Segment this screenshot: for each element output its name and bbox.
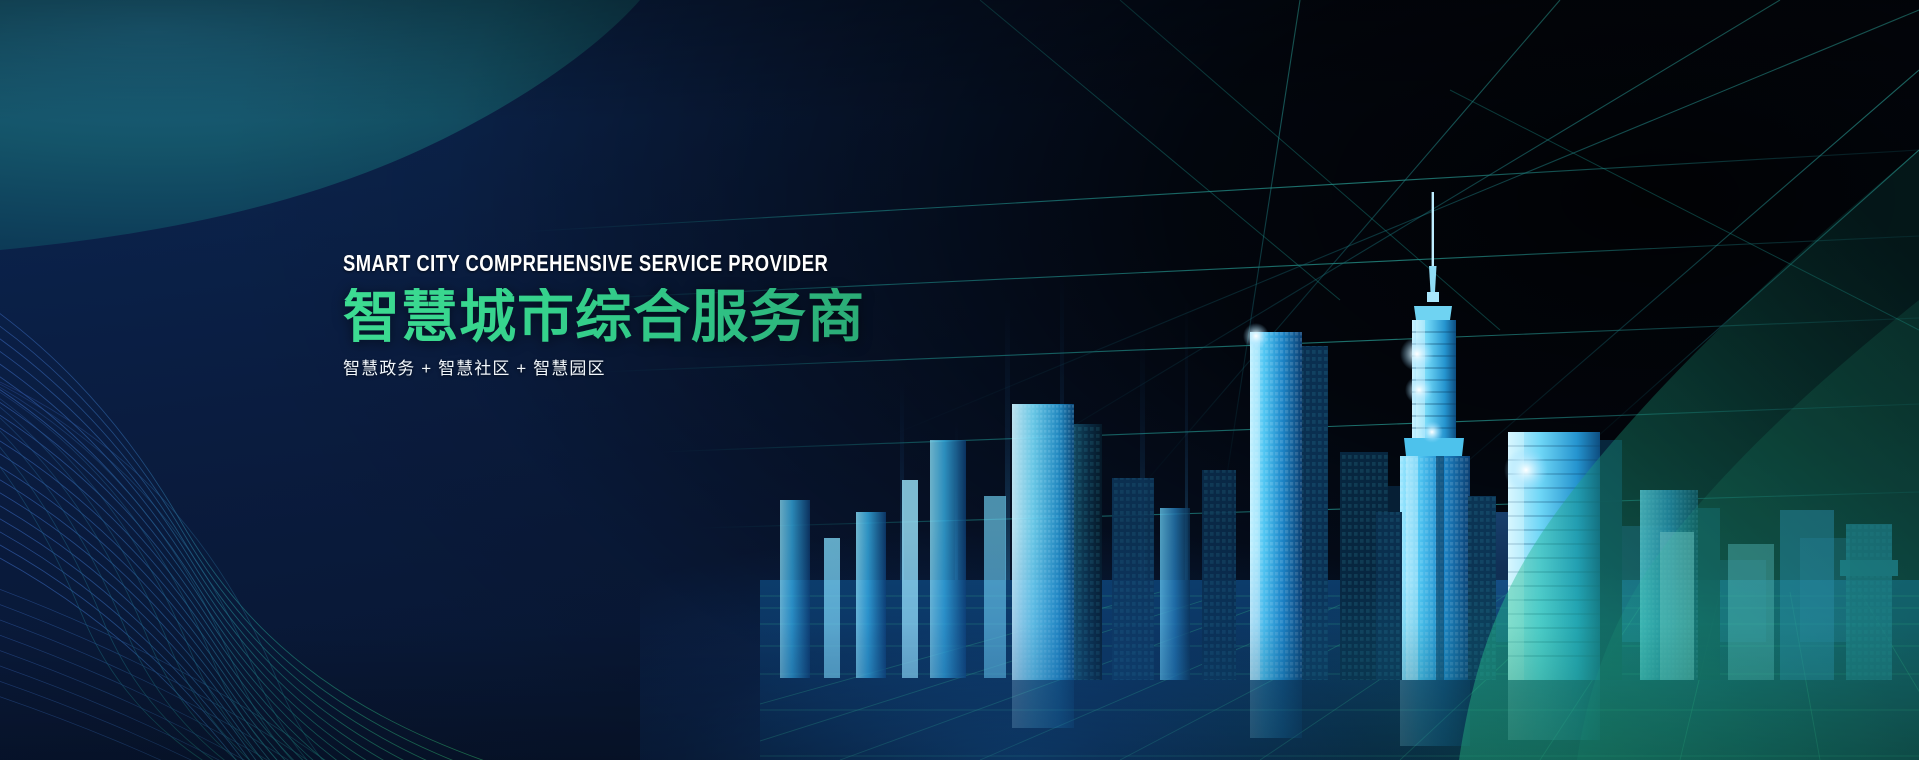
subtitle-text: 智慧政务 + 智慧社区 + 智慧园区	[343, 360, 1063, 377]
landmark-tower	[1376, 192, 1496, 680]
eyebrow-text: SMART CITY COMPREHENSIVE SERVICE PROVIDE…	[343, 252, 919, 275]
smart-city-banner: SMART CITY COMPREHENSIVE SERVICE PROVIDE…	[0, 0, 1919, 760]
page-title: 智慧城市综合服务商	[343, 288, 1063, 346]
headline-block: SMART CITY COMPREHENSIVE SERVICE PROVIDE…	[343, 252, 1063, 377]
right-block-tower	[1504, 432, 1622, 680]
3d-city-skyline	[760, 140, 1919, 760]
